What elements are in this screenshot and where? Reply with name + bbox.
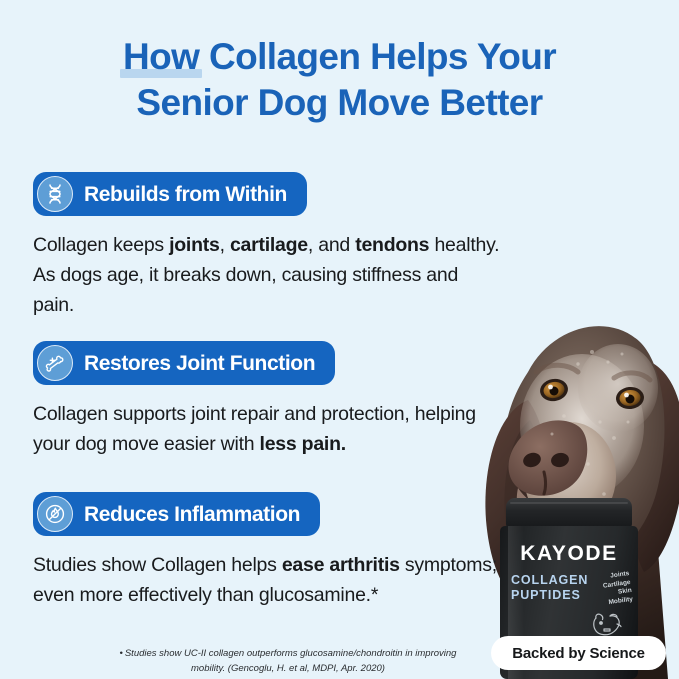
feature-restores-joint-function: Restores Joint Function Collagen support… (33, 341, 503, 459)
jar-product-name-line-2: PUPTIDES (511, 588, 588, 603)
feature-body-1: Collagen keeps joints, cartilage, and te… (33, 230, 503, 320)
page-title: How Collagen Helps Your Senior Dog Move … (0, 34, 679, 126)
footnote-line-1: Studies show UC-II collagen outperforms … (125, 648, 413, 659)
jar-benefits-list: Joints Cartilage Skin Mobility (601, 570, 633, 608)
feature-rebuilds-from-within: Rebuilds from Within Collagen keeps join… (33, 172, 503, 320)
footnote-bullet: • (120, 648, 123, 659)
title-highlight-word: How (123, 34, 199, 80)
feature-badge-3-label: Reduces Inflammation (84, 504, 300, 525)
feature-badge-3[interactable]: Reduces Inflammation (33, 492, 320, 536)
feature-body-3: Studies show Collagen helps ease arthrit… (33, 550, 503, 610)
footnote: •Studies show UC-II collagen outperforms… (108, 646, 468, 676)
feature-badge-2[interactable]: Restores Joint Function (33, 341, 335, 385)
infographic-canvas: How Collagen Helps Your Senior Dog Move … (0, 0, 679, 679)
feature-badge-1[interactable]: Rebuilds from Within (33, 172, 307, 216)
no-inflammation-flame-icon (37, 496, 73, 532)
feature-badge-1-label: Rebuilds from Within (84, 184, 287, 205)
feature-badge-2-label: Restores Joint Function (84, 353, 315, 374)
feature-body-2: Collagen supports joint repair and prote… (33, 399, 503, 459)
title-line-1: How Collagen Helps Your (0, 34, 679, 80)
backed-by-science-label: Backed by Science (512, 645, 645, 662)
title-line-1-rest: Collagen Helps Your (199, 36, 556, 77)
feature-reduces-inflammation: Reduces Inflammation Studies show Collag… (33, 492, 503, 610)
jar-lid (506, 498, 632, 528)
title-line-2: Senior Dog Move Better (0, 80, 679, 126)
bone-medical-cross-icon (37, 345, 73, 381)
jar-product-name-line-1: COLLAGEN (511, 573, 588, 588)
dna-helix-icon (37, 176, 73, 212)
jar-product-name: COLLAGEN PUPTIDES (511, 573, 588, 603)
backed-by-science-badge: Backed by Science (491, 636, 666, 670)
jar-brand-name: KAYODE (500, 542, 638, 566)
